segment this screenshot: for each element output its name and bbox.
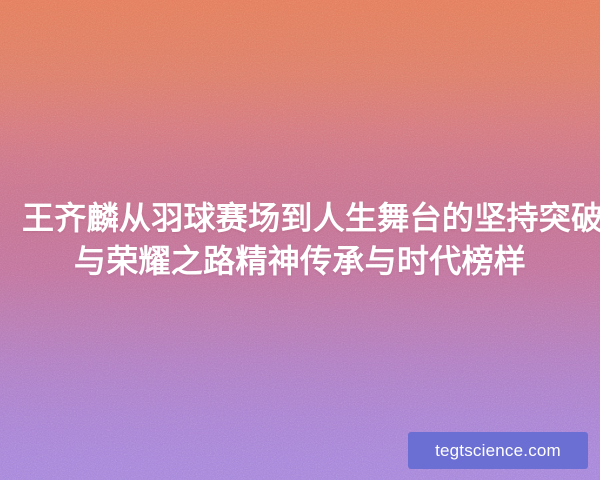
title-line-1: 王齐麟从羽球赛场到人生舞台的坚持突破 [22, 197, 578, 240]
domain-badge-label: tegtscience.com [435, 442, 561, 459]
page-title: 王齐麟从羽球赛场到人生舞台的坚持突破 与荣耀之路精神传承与时代榜样 [0, 0, 600, 480]
title-card: 王齐麟从羽球赛场到人生舞台的坚持突破 与荣耀之路精神传承与时代榜样 tegtsc… [0, 0, 600, 480]
title-line-2: 与荣耀之路精神传承与时代榜样 [22, 240, 578, 283]
domain-badge[interactable]: tegtscience.com [408, 432, 588, 469]
